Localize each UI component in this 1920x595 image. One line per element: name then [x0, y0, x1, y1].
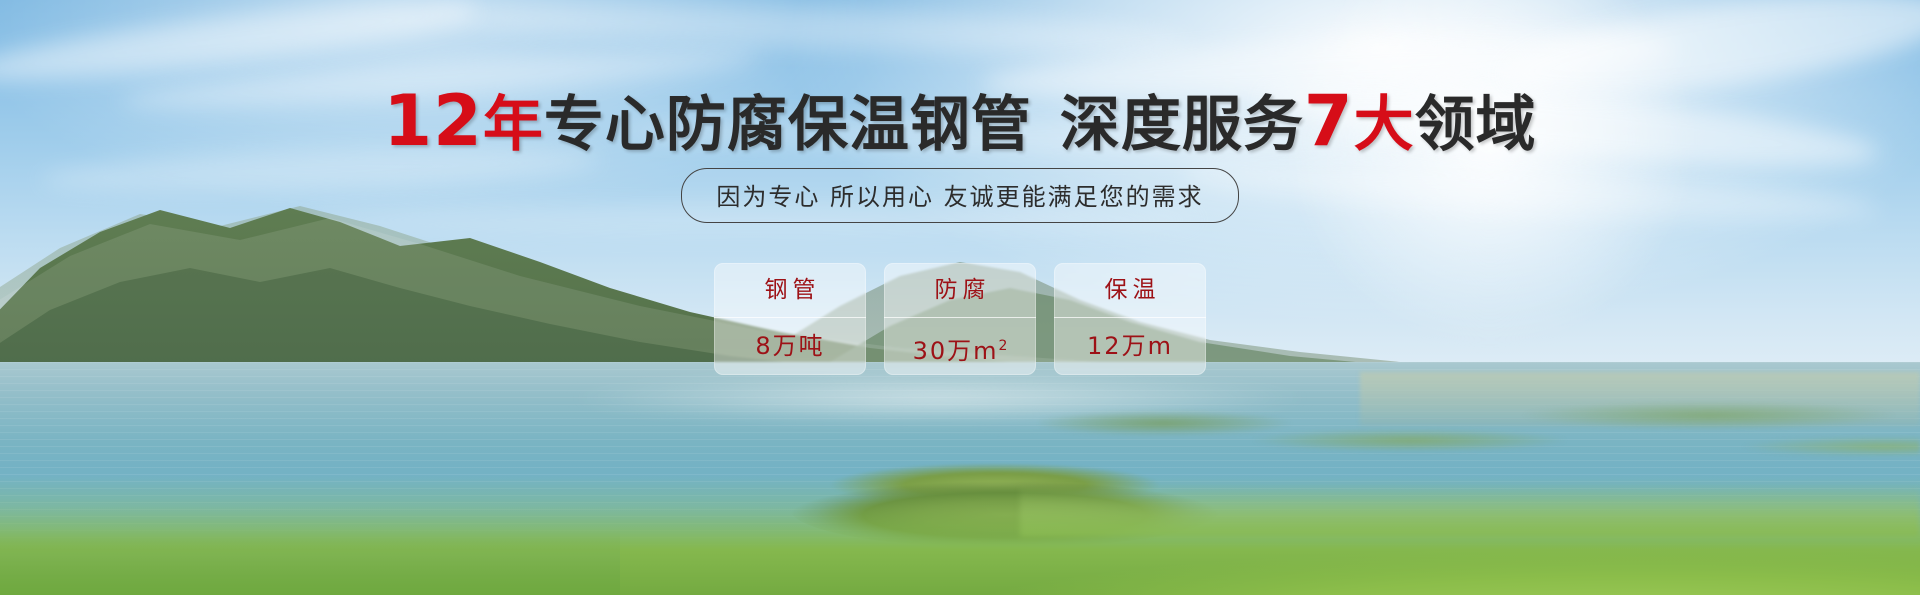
stat-card-value: 12万m — [1054, 318, 1206, 375]
subtitle-container: 因为专心 所以用心 友诚更能满足您的需求 — [0, 168, 1920, 223]
headline-years-number: 12 — [383, 80, 482, 162]
stat-card-title: 防腐 — [884, 263, 1036, 318]
headline-fields-number: 7 — [1304, 80, 1354, 162]
stat-card-value-text: 12万m — [1087, 332, 1173, 360]
stat-card-value-text: 30万m — [913, 337, 999, 365]
stat-card-value: 8万吨 — [714, 318, 866, 375]
banner-content: 12年专心防腐保温钢管深度服务7大领域 因为专心 所以用心 友诚更能满足您的需求… — [0, 0, 1920, 595]
headline-fields-unit: 大 — [1354, 90, 1415, 160]
stat-card-insulation: 保温 12万m — [1054, 263, 1206, 375]
stat-card-title: 钢管 — [714, 263, 866, 318]
hero-banner: 12年专心防腐保温钢管深度服务7大领域 因为专心 所以用心 友诚更能满足您的需求… — [0, 0, 1920, 595]
stat-card-value: 30万m2 — [884, 318, 1036, 375]
stat-card-anticorrosion: 防腐 30万m2 — [884, 263, 1036, 375]
stats-row: 钢管 8万吨 防腐 30万m2 保温 12万m — [0, 263, 1920, 375]
stat-card-steel-pipe: 钢管 8万吨 — [714, 263, 866, 375]
headline-fields-text: 领域 — [1415, 90, 1537, 160]
stat-card-value-text: 8万吨 — [755, 332, 824, 360]
stat-card-superscript: 2 — [999, 338, 1008, 354]
page-title: 12年专心防腐保温钢管深度服务7大领域 — [0, 86, 1920, 156]
headline-years-unit: 年 — [483, 90, 544, 160]
headline-middle-text: 专心防腐保温钢管 — [544, 90, 1032, 160]
stat-card-title: 保温 — [1054, 263, 1206, 318]
subtitle-pill: 因为专心 所以用心 友诚更能满足您的需求 — [681, 168, 1238, 223]
headline-service-text: 深度服务 — [1060, 90, 1304, 160]
